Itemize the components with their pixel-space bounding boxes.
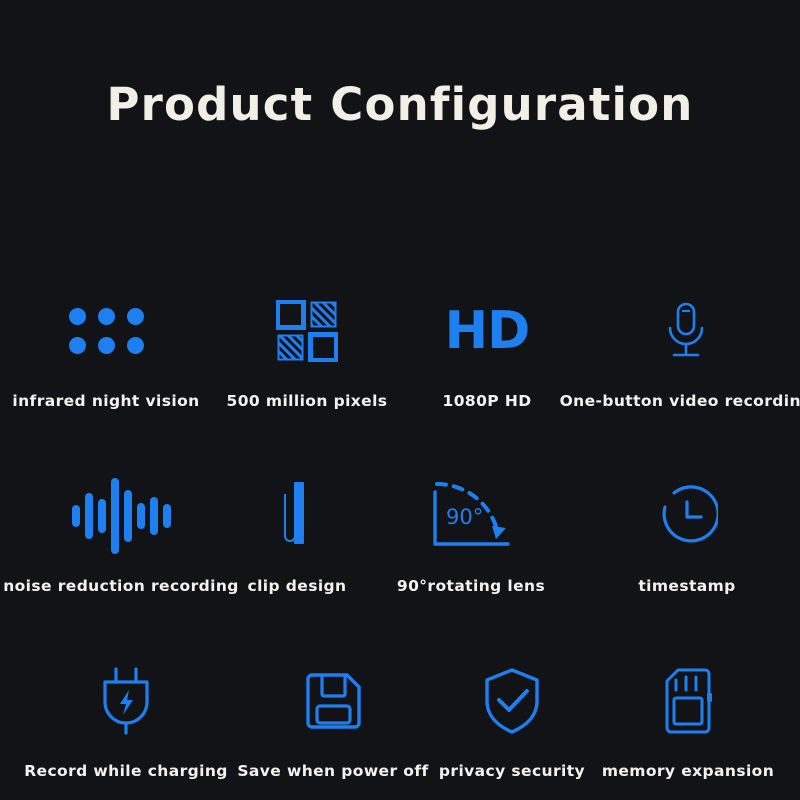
feature-row: Record while charging Save when power of… [0, 595, 800, 780]
wave-bar [163, 504, 171, 528]
feature-item-infrared-night-vision[interactable]: infrared night vision [0, 283, 212, 410]
sd-card-icon [660, 653, 716, 748]
clip-icon [280, 468, 314, 563]
dot [127, 308, 144, 325]
feature-label: clip design [248, 577, 347, 595]
feature-item-noise-reduction-recording[interactable]: noise reduction recording [8, 468, 234, 595]
sound-waveform-icon [72, 468, 171, 563]
feature-label: Save when power off [237, 762, 428, 780]
feature-item-90-rotating-lens[interactable]: 90° 90°rotating lens [360, 468, 582, 595]
infrared-dots-icon [69, 283, 144, 378]
pixel-grid-icon [276, 283, 338, 378]
feature-row: infrared night vision [0, 225, 800, 410]
feature-label: One-button video recording [560, 392, 800, 410]
feature-item-500-million-pixels[interactable]: 500 million pixels [212, 283, 402, 410]
feature-label: 1080P HD [443, 392, 532, 410]
wave-bar [111, 478, 119, 554]
hd-glyph: HD [445, 305, 530, 357]
microphone-icon [658, 283, 714, 378]
feature-grid: infrared night vision [0, 225, 800, 780]
floppy-disk-icon [302, 653, 364, 748]
hd-badge-icon: HD [445, 283, 530, 378]
shield-check-icon [482, 653, 542, 748]
wave-bar [124, 490, 132, 542]
feature-label: privacy security [439, 762, 585, 780]
wave-bar [98, 499, 106, 533]
rotating-angle-icon: 90° [424, 468, 518, 563]
feature-item-timestamp[interactable]: timestamp [582, 468, 792, 595]
feature-item-1080p-hd[interactable]: HD 1080P HD [402, 283, 572, 410]
feature-row: noise reduction recording clip design [0, 410, 800, 595]
wave-bar [137, 503, 145, 529]
dot [69, 308, 86, 325]
feature-label: Record while charging [24, 762, 228, 780]
page-title: Product Configuration [0, 78, 800, 131]
dot [98, 337, 115, 354]
clock-icon [656, 468, 718, 563]
feature-item-save-when-power-off[interactable]: Save when power off [235, 653, 431, 780]
feature-item-memory-expansion[interactable]: memory expansion [593, 653, 783, 780]
feature-item-one-button-video-recording[interactable]: One-button video recording [572, 283, 800, 410]
feature-label: 90°rotating lens [397, 577, 545, 595]
dot [69, 337, 86, 354]
dot [127, 337, 144, 354]
dot [98, 308, 115, 325]
wave-bar [85, 493, 93, 539]
product-configuration-page: Product Configuration infrared night vis… [0, 0, 800, 800]
wave-bar [72, 505, 80, 527]
feature-item-privacy-security[interactable]: privacy security [431, 653, 593, 780]
feature-item-clip-design[interactable]: clip design [234, 468, 360, 595]
feature-label: timestamp [638, 577, 735, 595]
feature-label: noise reduction recording [3, 577, 239, 595]
feature-label: infrared night vision [12, 392, 199, 410]
feature-item-record-while-charging[interactable]: Record while charging [17, 653, 235, 780]
angle-glyph: 90° [446, 505, 483, 529]
power-plug-bolt-icon [96, 653, 156, 748]
feature-label: memory expansion [602, 762, 774, 780]
wave-bar [150, 497, 158, 535]
feature-label: 500 million pixels [227, 392, 388, 410]
